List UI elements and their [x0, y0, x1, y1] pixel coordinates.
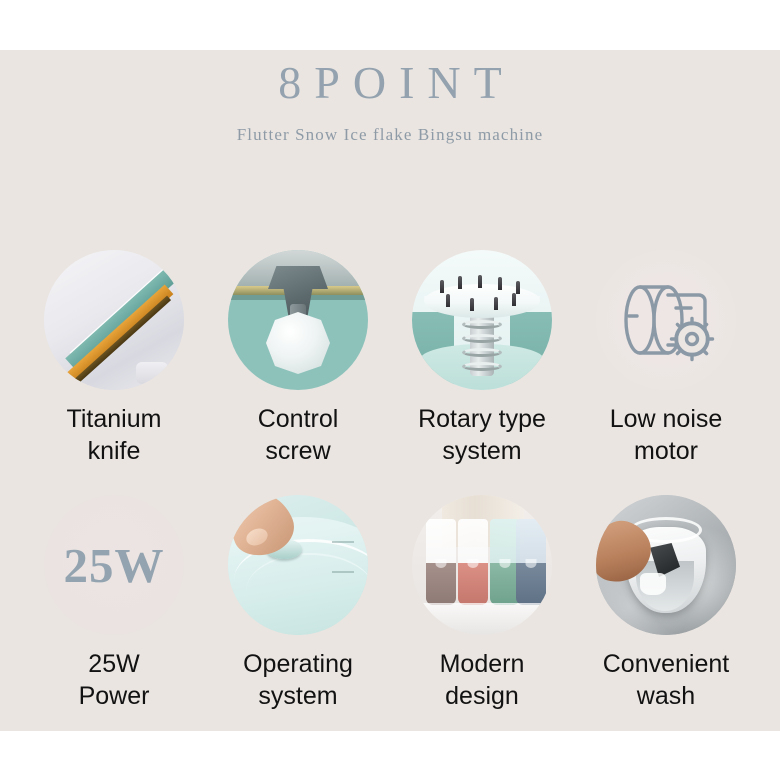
motor-gear-icon — [596, 250, 736, 390]
titanium-blade-icon — [44, 250, 184, 390]
header: 8POINT Flutter Snow Ice flake Bingsu mac… — [0, 58, 780, 145]
feature-item-convenient-wash[interactable]: Convenient wash — [574, 495, 758, 712]
feature-item-rotary-system[interactable]: Rotary type system — [390, 250, 574, 467]
feature-label: Low noise motor — [610, 403, 723, 467]
hand-washing-icon — [596, 495, 736, 635]
feature-label: Titanium knife — [67, 403, 162, 467]
feature-label: Rotary type system — [418, 403, 546, 467]
wattage-badge-text: 25W — [44, 495, 184, 635]
feature-label: Control screw — [258, 403, 339, 467]
feature-item-operating-system[interactable]: Operating system — [206, 495, 390, 712]
feature-grid: Titanium knife Control screw — [22, 250, 758, 712]
feature-item-25w-power[interactable]: 25W 25W Power — [22, 495, 206, 712]
control-screw-icon — [228, 250, 368, 390]
page-title: 8POINT — [0, 58, 780, 109]
page-subtitle: Flutter Snow Ice flake Bingsu machine — [0, 125, 780, 145]
feature-label: 25W Power — [79, 648, 150, 712]
feature-item-titanium-knife[interactable]: Titanium knife — [22, 250, 206, 467]
infographic-page: 8POINT Flutter Snow Ice flake Bingsu mac… — [0, 0, 780, 780]
wattage-badge-icon: 25W — [44, 495, 184, 635]
color-variants-icon — [412, 495, 552, 635]
rotary-disc-icon — [412, 250, 552, 390]
feature-item-control-screw[interactable]: Control screw — [206, 250, 390, 467]
feature-label: Modern design — [440, 648, 525, 712]
feature-label: Operating system — [243, 648, 353, 712]
motor-line-art — [596, 250, 736, 390]
feature-item-modern-design[interactable]: Modern design — [390, 495, 574, 712]
finger-press-button-icon — [228, 495, 368, 635]
feature-item-low-noise-motor[interactable]: Low noise motor — [574, 250, 758, 467]
feature-label: Convenient wash — [603, 648, 729, 712]
